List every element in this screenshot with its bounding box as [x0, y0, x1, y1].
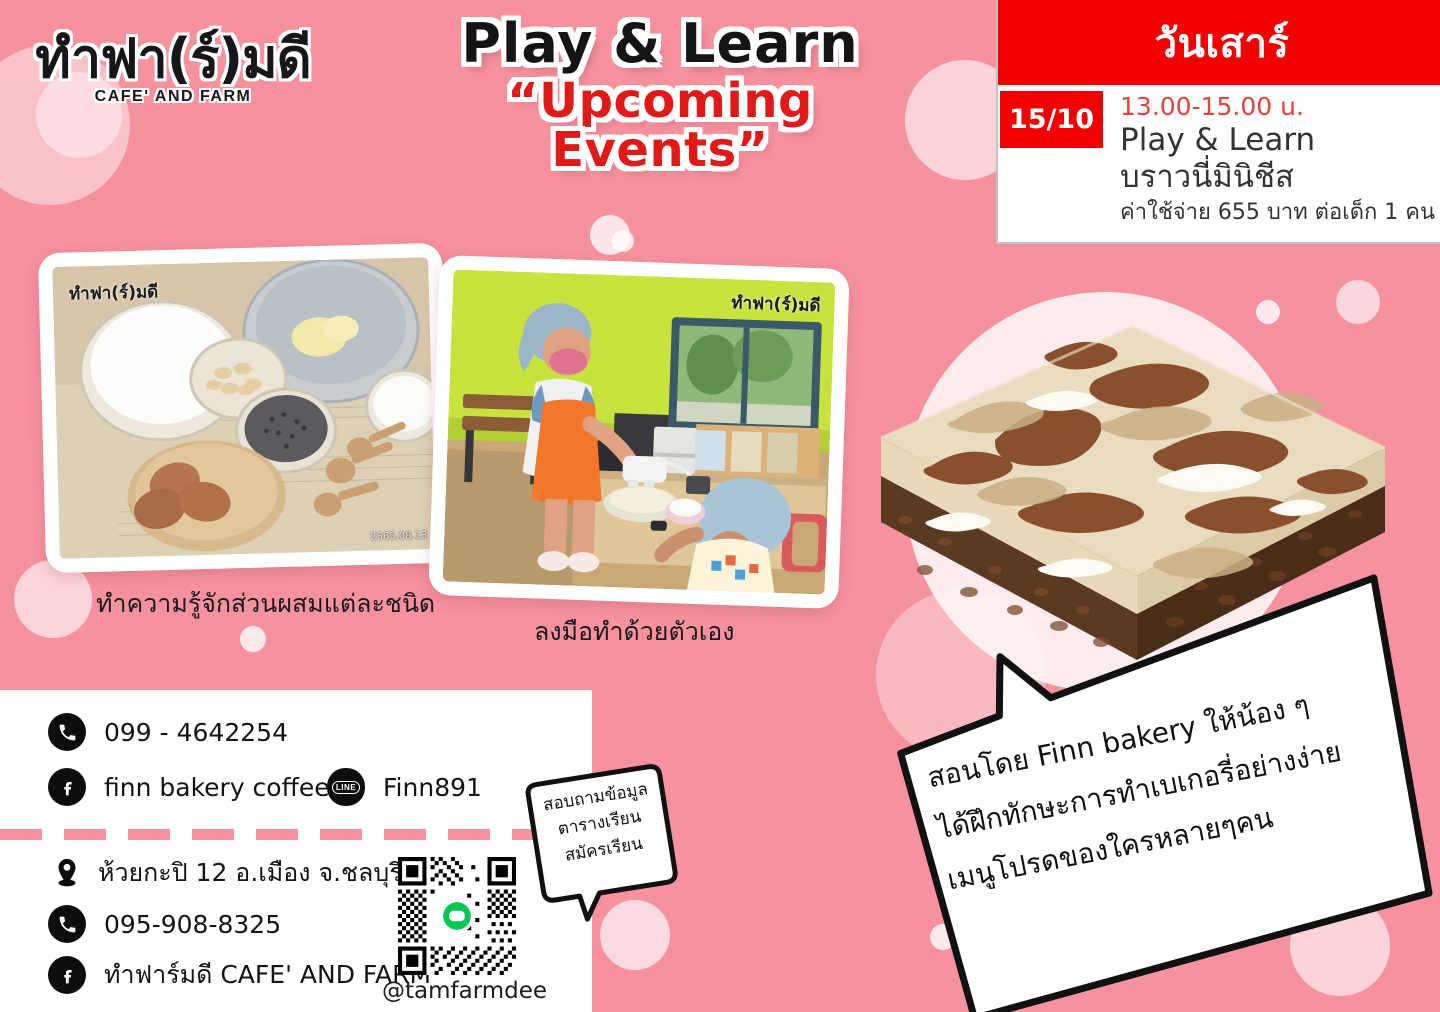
contact-address-value: ห้วยกะปิ 12 อ.เมือง จ.ชลบุรี [98, 853, 403, 893]
headline-secondary: “Upcoming Events” [400, 77, 920, 175]
contact-phone2-value: 095-908-8325 [104, 910, 281, 939]
contact-facebook2-row[interactable]: ทำฟาร์มดี CAFE' AND FARM [48, 955, 431, 995]
contact-line-row[interactable]: LINE Finn891 [327, 768, 482, 806]
photo-caption-hands-on: ลงมือทำด้วยตัวเอง [534, 612, 735, 652]
contact-divider [0, 829, 592, 840]
facebook-icon [48, 956, 86, 994]
schedule-card: วันเสาร์ 15/10 13.00-15.00 u. Play & Lea… [996, 0, 1440, 244]
schedule-event-title: Play & Learn [1120, 122, 1435, 160]
photo-ingredients: ทำฟา(ร์)มดี 2565.08.13 [38, 243, 450, 573]
contact-facebook-value: finn bakery coffee [104, 773, 330, 802]
speech-bubble-inquiry-text: สอบถามข้อมูล ตารางเรียน สมัครเรียน [517, 759, 687, 930]
contact-facebook-row[interactable]: finn bakery coffee [48, 768, 330, 806]
contact-phone-row[interactable]: 099 - 4642254 [48, 713, 288, 751]
brand-logo: ทำฟา(ร์)มดี CAFE' AND FARM [28, 14, 318, 124]
schedule-day-label: วันเสาร์ [1155, 11, 1290, 75]
schedule-day-banner: วันเสาร์ [998, 0, 1440, 85]
schedule-body: 15/10 13.00-15.00 u. Play & Learn บราวนี… [998, 85, 1440, 242]
phone-icon [48, 713, 86, 751]
photo-ingredients-image [52, 257, 436, 559]
page-title: Play & Learn “Upcoming Events” [400, 16, 920, 175]
contact-phone2-row[interactable]: 095-908-8325 [48, 905, 281, 943]
contact-address-row[interactable]: ห้วยกะปิ 12 อ.เมือง จ.ชลบุรี [48, 853, 403, 893]
bokeh-circle [612, 230, 634, 252]
qr-label: @tamfarmdee [382, 978, 547, 1004]
schedule-time: 13.00-15.00 u. [1120, 92, 1435, 122]
schedule-date-badge: 15/10 [1000, 91, 1103, 148]
bokeh-circle [590, 215, 630, 255]
line-icon: LINE [327, 768, 365, 806]
schedule-details: 13.00-15.00 u. Play & Learn บราวนี่มินิช… [1103, 91, 1435, 228]
headline-primary: Play & Learn [400, 16, 920, 71]
phone-icon [48, 905, 86, 943]
photo-caption-ingredients: ทำความรู้จักส่วนผสมแต่ละชนิด [96, 584, 435, 624]
brand-logo-text: ทำฟา(ร์)มดี [35, 32, 311, 86]
qr-code[interactable] [398, 857, 516, 975]
photo-hands-on: ทำฟา(ร์)มดี [428, 255, 850, 609]
schedule-price: ค่าใช้จ่าย 655 บาท ต่อเด็ก 1 คน [1120, 197, 1435, 228]
facebook-icon [48, 768, 86, 806]
contact-line-value: Finn891 [383, 773, 482, 802]
photo-hands-on-image [443, 269, 836, 594]
poster-canvas: ทำฟา(ร์)มดี CAFE' AND FARM Play & Learn … [0, 0, 1440, 1012]
location-pin-icon [48, 854, 86, 892]
brand-logo-subtitle: CAFE' AND FARM [95, 88, 252, 106]
speech-bubble-inquiry: สอบถามข้อมูล ตารางเรียน สมัครเรียน [517, 759, 687, 930]
schedule-menu: บราวนี่มินิชีส [1120, 159, 1435, 197]
contact-phone-value: 099 - 4642254 [104, 718, 288, 747]
bokeh-circle [240, 626, 266, 652]
